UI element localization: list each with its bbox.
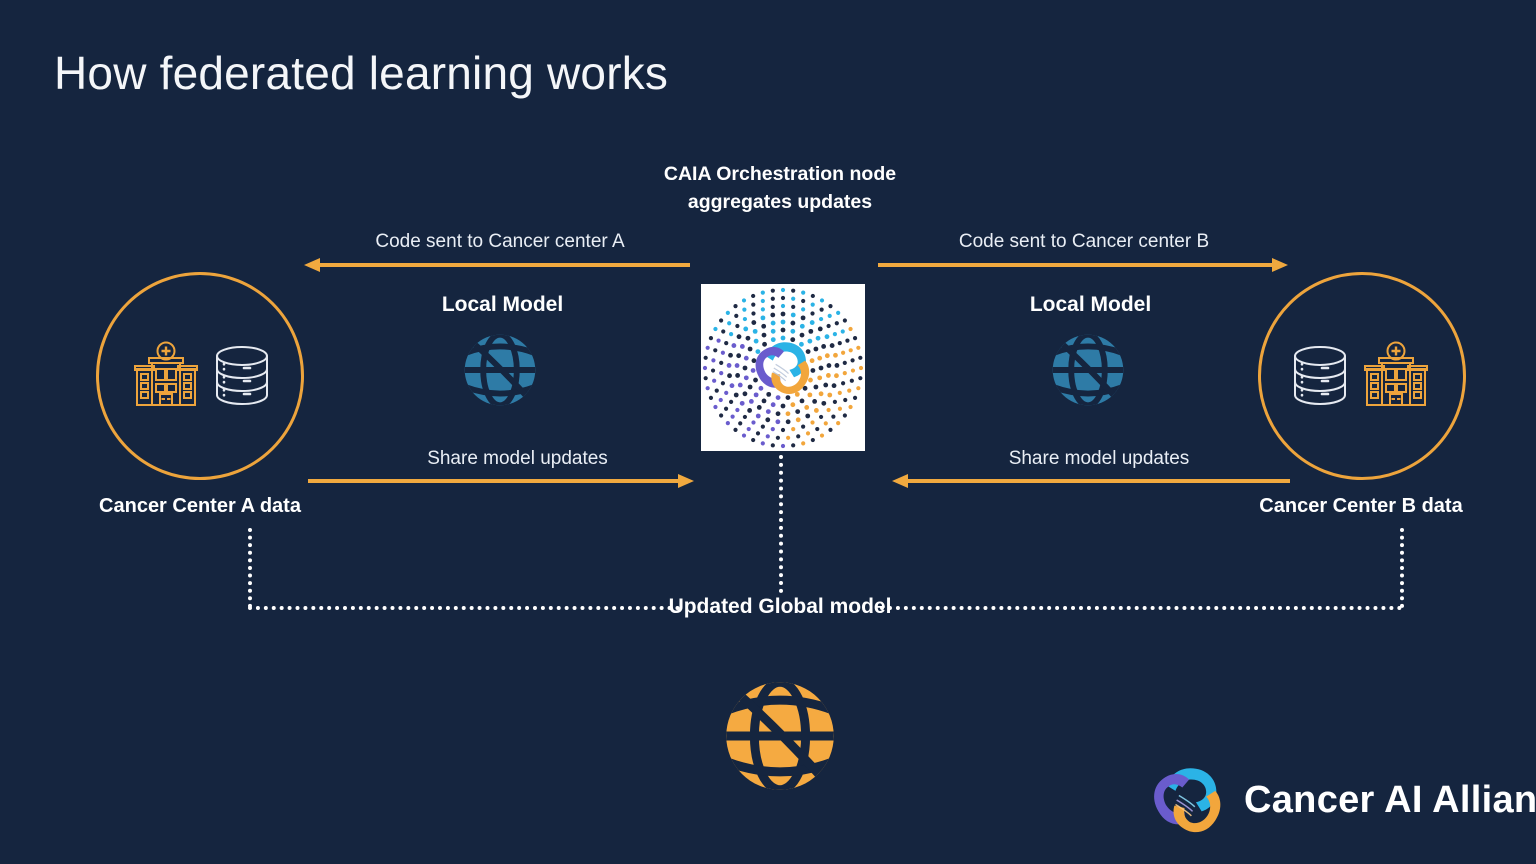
- arrow-b-bottom-label: Share model updates: [884, 448, 1314, 470]
- globe-icon: [1040, 328, 1136, 412]
- local-model-a-globe: [452, 328, 548, 412]
- cancer-center-a-caption: Cancer Center A data: [40, 494, 360, 518]
- arrow-a-top-label: Code sent to Cancer center A: [310, 231, 690, 253]
- arrow-left-icon: [302, 256, 690, 274]
- cancer-center-b-caption: Cancer Center B data: [1196, 494, 1526, 518]
- arrow-code-to-center-b: [878, 256, 1290, 274]
- three-hands-logo: [1148, 760, 1228, 840]
- caia-dotted-circle-logo: [701, 284, 865, 451]
- center-a-icons: [127, 341, 273, 411]
- local-model-b-globe: [1040, 328, 1136, 412]
- brand-lockup: Cancer AI Alliance: [1148, 760, 1536, 840]
- database-icon: [211, 343, 273, 409]
- brand-name: Cancer AI Alliance: [1244, 779, 1536, 822]
- page-title: How federated learning works: [54, 46, 668, 100]
- globe-icon: [716, 672, 844, 800]
- global-model-caption: Updated Global model: [660, 592, 900, 621]
- global-model-globe: [716, 672, 844, 800]
- caia-orchestration-node[interactable]: [701, 284, 865, 451]
- center-b-icons: [1289, 341, 1435, 411]
- connector-center-to-global: [779, 455, 783, 593]
- arrow-left-icon: [890, 472, 1290, 490]
- connector-a-vertical: [248, 528, 252, 608]
- connector-a-horizontal: [248, 606, 680, 610]
- caia-node-caption: CAIA Orchestration node aggregates updat…: [660, 160, 900, 216]
- arrow-a-bottom-label: Share model updates: [310, 448, 725, 470]
- local-model-b-label: Local Model: [988, 292, 1193, 318]
- database-icon: [1289, 343, 1351, 409]
- arrow-share-updates-b: [890, 472, 1290, 490]
- arrow-b-top-label: Code sent to Cancer center B: [884, 231, 1284, 253]
- connector-b-horizontal: [880, 606, 1402, 610]
- arrow-share-updates-a: [308, 472, 696, 490]
- globe-icon: [452, 328, 548, 412]
- connector-b-vertical: [1400, 528, 1404, 608]
- arrow-right-icon: [308, 472, 696, 490]
- arrow-code-to-center-a: [302, 256, 690, 274]
- local-model-a-label: Local Model: [400, 292, 605, 318]
- slide-canvas: How federated learning works CAIA Orches…: [0, 0, 1536, 864]
- hospital-icon: [1357, 341, 1435, 411]
- arrow-right-icon: [878, 256, 1290, 274]
- cancer-center-a-node[interactable]: [96, 272, 304, 480]
- hospital-icon: [127, 341, 205, 411]
